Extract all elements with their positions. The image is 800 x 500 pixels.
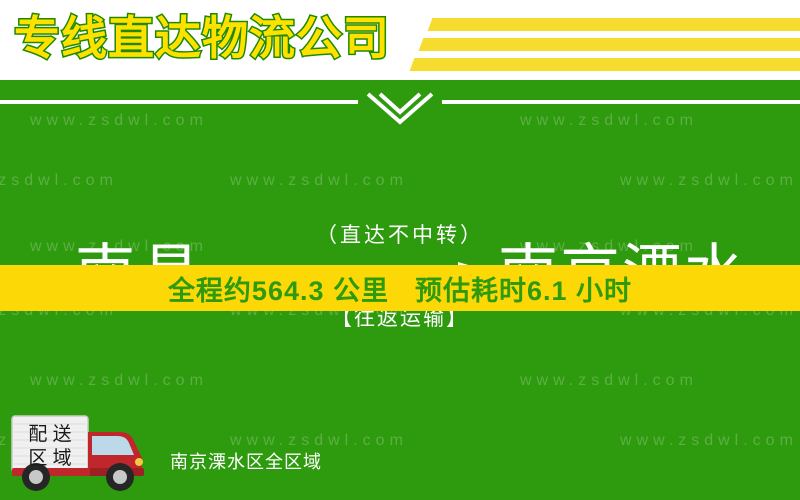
decorative-stripe-2: [419, 38, 800, 51]
banner-body: www.zsdwl.com www.zsdwl.com www.zsdwl.co…: [0, 80, 800, 500]
delivery-truck-icon: 配 送 区 域: [8, 412, 160, 494]
chevron-down-icon: [350, 92, 450, 128]
watermark-text: www.zsdwl.com: [30, 112, 208, 130]
truck-box-label-line2: 区 域: [28, 447, 71, 469]
watermark-text: www.zsdwl.com: [620, 432, 798, 450]
page-title: 专线直达物流公司: [14, 8, 390, 68]
decorative-stripe-3: [410, 58, 800, 71]
decorative-stripe-1: [428, 18, 800, 31]
banner-header: 专线直达物流公司: [0, 0, 800, 80]
direct-service-note: （直达不中转）: [300, 219, 500, 249]
watermark-text: www.zsdwl.com: [30, 372, 208, 390]
top-divider-left: [0, 100, 358, 104]
watermark-text: www.zsdwl.com: [230, 172, 408, 190]
watermark-text: www.zsdwl.com: [0, 172, 118, 190]
duration-text: 预估耗时6.1 小时: [415, 269, 632, 308]
watermark-text: www.zsdwl.com: [620, 172, 798, 190]
route-info-bar: 全程约564.3 公里 预估耗时6.1 小时: [0, 265, 800, 311]
logistics-banner: 专线直达物流公司 www.zsdwl.com www.zsdwl.com www…: [0, 0, 800, 500]
distance-text: 全程约564.3 公里: [168, 269, 389, 308]
watermark-text: www.zsdwl.com: [520, 112, 698, 130]
top-divider-right: [442, 100, 800, 104]
coverage-area-text: 南京溧水区全区域: [170, 448, 322, 474]
truck-box-label-line1: 配 送: [28, 423, 71, 445]
watermark-text: www.zsdwl.com: [520, 372, 698, 390]
